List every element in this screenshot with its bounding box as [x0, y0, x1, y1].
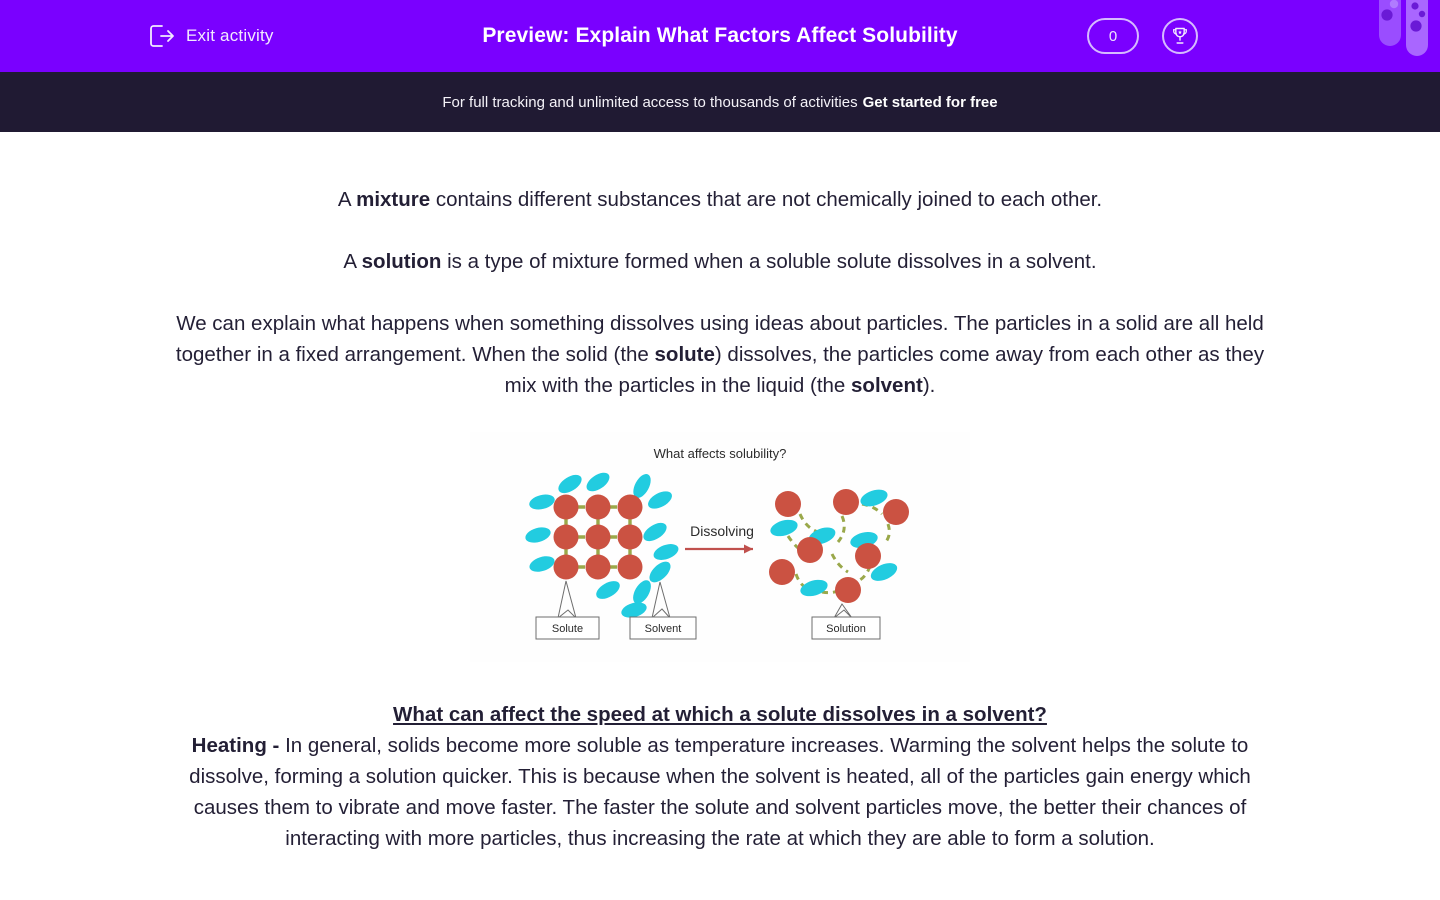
get-started-link[interactable]: Get started for free: [863, 94, 998, 111]
p2-lead: A: [343, 250, 361, 273]
paragraph-solution: A solution is a type of mixture formed w…: [160, 246, 1280, 277]
dissolving-arrow: Dissolving: [685, 523, 754, 554]
p3-tail: ).: [923, 374, 936, 397]
p3-bold-solute: solute: [655, 343, 715, 366]
callout-solvent-label: Solvent: [645, 623, 682, 635]
p2-tail: is a type of mixture formed when a solub…: [441, 250, 1096, 273]
paragraph-heating: Heating - In general, solids become more…: [160, 730, 1280, 854]
p3-bold-solvent: solvent: [851, 374, 923, 397]
p1-tail: contains different substances that are n…: [430, 188, 1102, 211]
callout-solution-label: Solution: [826, 623, 866, 635]
trophy-button[interactable]: [1162, 18, 1198, 54]
paragraph-particles: We can explain what happens when somethi…: [160, 308, 1280, 401]
exit-arrow-icon: [149, 24, 175, 48]
p1-lead: A: [338, 188, 356, 211]
header-actions: 0: [1087, 18, 1198, 54]
section-heading: What can affect the speed at which a sol…: [160, 699, 1280, 730]
paragraph-mixture: A mixture contains different substances …: [160, 184, 1280, 215]
p4-bold-heating: Heating -: [192, 734, 280, 757]
trophy-icon: [1170, 26, 1190, 46]
exit-activity-label: Exit activity: [186, 26, 274, 46]
p2-bold-solution: solution: [362, 250, 442, 273]
activity-content: A mixture contains different substances …: [0, 132, 1440, 854]
p4-text: In general, solids become more soluble a…: [189, 734, 1251, 850]
app-header: Exit activity Preview: Explain What Fact…: [0, 0, 1440, 72]
dissolving-label: Dissolving: [690, 523, 754, 539]
promo-text: For full tracking and unlimited access t…: [442, 94, 857, 111]
callout-solute-label: Solute: [552, 623, 583, 635]
promo-banner: For full tracking and unlimited access t…: [0, 72, 1440, 132]
p1-bold-mixture: mixture: [356, 188, 430, 211]
diagram-svg: What affects solubility?: [470, 432, 970, 662]
diagram-title: What affects solubility?: [654, 446, 787, 461]
exit-activity-button[interactable]: Exit activity: [149, 0, 274, 72]
solubility-diagram: What affects solubility?: [470, 432, 970, 662]
test-tubes-icon: [1370, 0, 1440, 72]
score-badge[interactable]: 0: [1087, 18, 1139, 54]
